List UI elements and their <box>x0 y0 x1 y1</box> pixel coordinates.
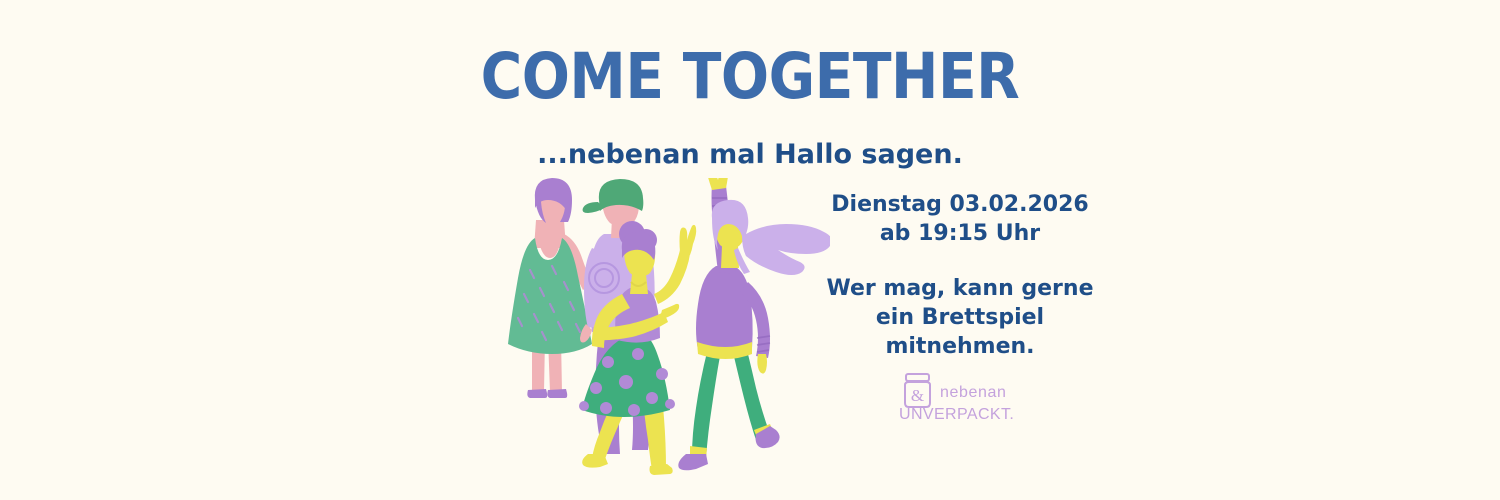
event-note-line-1: Wer mag, kann gerne <box>810 274 1110 303</box>
event-time: ab 19:15 Uhr <box>810 219 1110 248</box>
illustration-svg <box>480 178 830 478</box>
event-info-column: Dienstag 03.02.2026 ab 19:15 Uhr Wer mag… <box>810 190 1110 361</box>
subtitle: ...nebenan mal Hallo sagen. <box>0 139 1500 171</box>
ampersand-glyph: & <box>911 386 924 405</box>
figure-woman-arm-raised <box>678 178 830 470</box>
illustration-four-people <box>480 178 830 478</box>
event-note-block: Wer mag, kann gerne ein Brettspiel mitne… <box>810 274 1110 361</box>
brand-logo: & nebenan UNVERPACKT. <box>898 372 1016 426</box>
event-note-line-2: ein Brettspiel <box>810 303 1110 332</box>
event-banner: COME TOGETHER ...nebenan mal Hallo sagen… <box>0 0 1500 500</box>
logo-wordmark: nebenan <box>940 384 1007 402</box>
logo-subword: UNVERPACKT. <box>899 406 1014 424</box>
event-date-block: Dienstag 03.02.2026 ab 19:15 Uhr <box>810 190 1110 248</box>
event-note-line-3: mitnehmen. <box>810 332 1110 361</box>
page-title: COME TOGETHER <box>0 45 1500 108</box>
event-date: Dienstag 03.02.2026 <box>810 190 1110 219</box>
